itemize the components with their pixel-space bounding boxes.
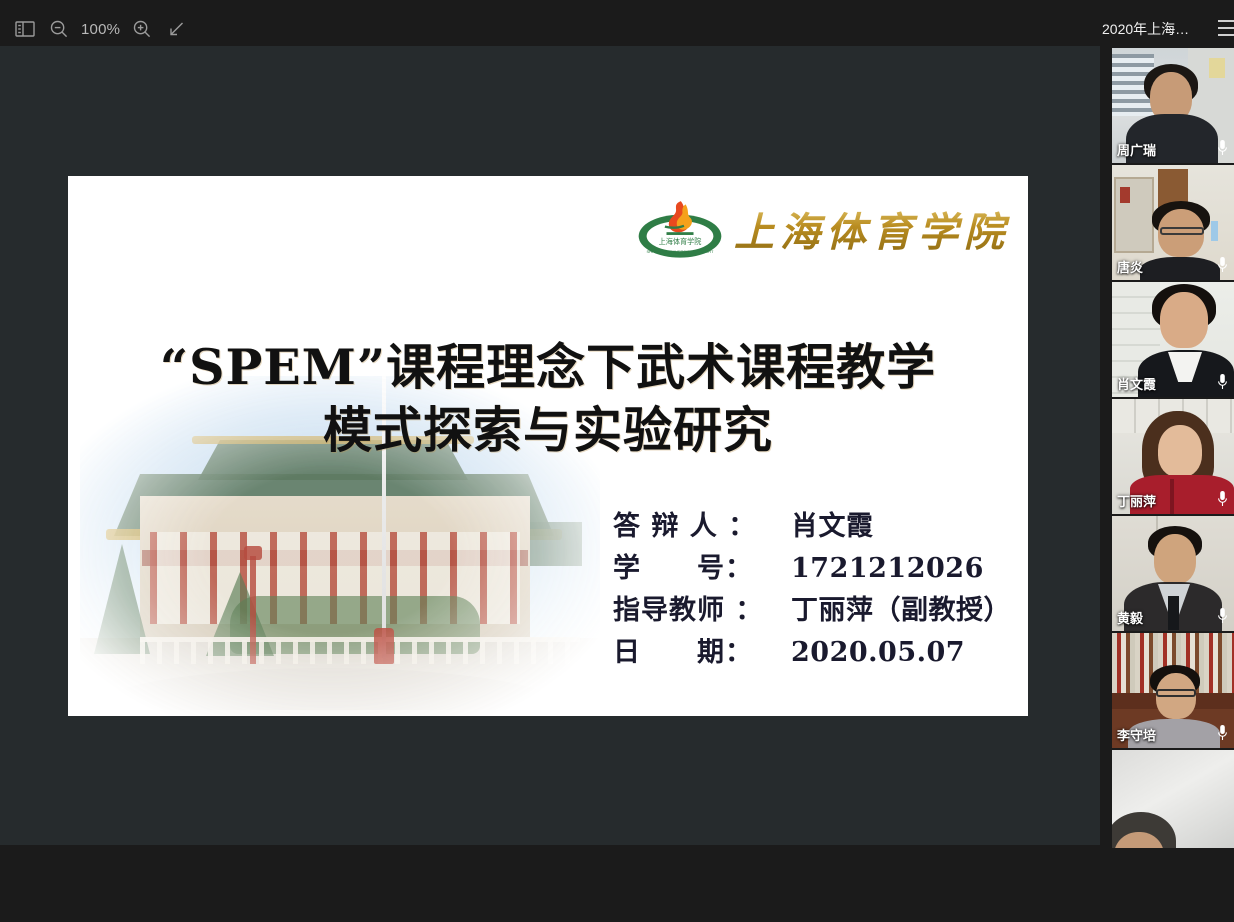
info-label: 指导教师 ： <box>613 590 791 632</box>
video-tile-participant-6[interactable]: 李守培 <box>1112 633 1234 748</box>
video-tile-participant-5[interactable]: 黄毅 <box>1112 516 1234 631</box>
participant-name: 周广瑞 <box>1117 140 1156 159</box>
microphone-icon <box>1217 139 1228 157</box>
university-logo: 上海体育学院 SHANGHAI UNIVERSITY OF SPORT 上海体育… <box>636 198 1010 260</box>
microphone-icon <box>1217 607 1228 625</box>
shared-screen-stage[interactable]: 上海体育学院 SHANGHAI UNIVERSITY OF SPORT 上海体育… <box>0 46 1100 845</box>
participant-video-strip[interactable]: 周广瑞 唐炎 肖文霞 <box>1112 48 1234 848</box>
sidebar-panel-icon[interactable] <box>8 12 42 46</box>
microphone-icon <box>1217 373 1228 391</box>
flame-circle-emblem: 上海体育学院 SHANGHAI UNIVERSITY OF SPORT <box>636 198 724 260</box>
slide-title: “SPEM”课程理念下武术课程教学 模式探索与实验研究 <box>68 336 1028 461</box>
svg-text:SHANGHAI UNIVERSITY OF SPORT: SHANGHAI UNIVERSITY OF SPORT <box>647 249 714 254</box>
video-tile-participant-3[interactable]: 肖文霞 <box>1112 282 1234 397</box>
collapse-arrow-icon[interactable] <box>159 12 193 46</box>
participant-name: 丁丽萍 <box>1117 491 1156 510</box>
microphone-icon <box>1217 724 1228 742</box>
participant-name: 黄毅 <box>1117 608 1143 627</box>
hamburger-menu-icon[interactable] <box>1218 20 1234 36</box>
logo-wordmark: 上海体育学院 <box>734 200 1010 258</box>
info-value: 肖文霞 <box>791 506 874 548</box>
meeting-title: 2020年上海体育... <box>1102 19 1199 39</box>
slide-info-block: 答 辩 人 ： 肖文霞 学 号： 1721212026 指导教师 ： 丁丽萍（副… <box>613 506 1011 674</box>
video-tile-participant-1[interactable]: 周广瑞 <box>1112 48 1234 163</box>
info-row-advisor: 指导教师 ： 丁丽萍（副教授） <box>613 590 1011 632</box>
zoom-out-icon[interactable] <box>42 12 76 46</box>
info-value: 1721212026 <box>791 548 984 590</box>
zoom-in-icon[interactable] <box>125 12 159 46</box>
info-row-presenter: 答 辩 人 ： 肖文霞 <box>613 506 1011 548</box>
participant-name: 李守培 <box>1117 725 1156 744</box>
video-tile-participant-7[interactable] <box>1112 750 1234 848</box>
video-tile-participant-2[interactable]: 唐炎 <box>1112 165 1234 280</box>
microphone-icon <box>1217 256 1228 274</box>
microphone-icon <box>1217 490 1228 508</box>
info-value: 2020.05.07 <box>791 632 965 674</box>
presentation-slide: 上海体育学院 SHANGHAI UNIVERSITY OF SPORT 上海体育… <box>68 176 1028 716</box>
info-label: 日 期： <box>613 632 791 674</box>
participant-name: 肖文霞 <box>1117 374 1156 393</box>
video-tile-participant-4[interactable]: 丁丽萍 <box>1112 399 1234 514</box>
meeting-window: 100% 2020年上海体育... <box>0 0 1234 922</box>
info-row-date: 日 期： 2020.05.07 <box>613 632 1011 674</box>
info-value: 丁丽萍（副教授） <box>791 590 1011 632</box>
zoom-level-label: 100% <box>76 21 125 38</box>
info-label: 答 辩 人 ： <box>613 506 791 548</box>
info-label: 学 号： <box>613 548 791 590</box>
info-row-student-id: 学 号： 1721212026 <box>613 548 1011 590</box>
participant-name: 唐炎 <box>1117 257 1143 276</box>
svg-text:上海体育学院: 上海体育学院 <box>659 237 702 246</box>
